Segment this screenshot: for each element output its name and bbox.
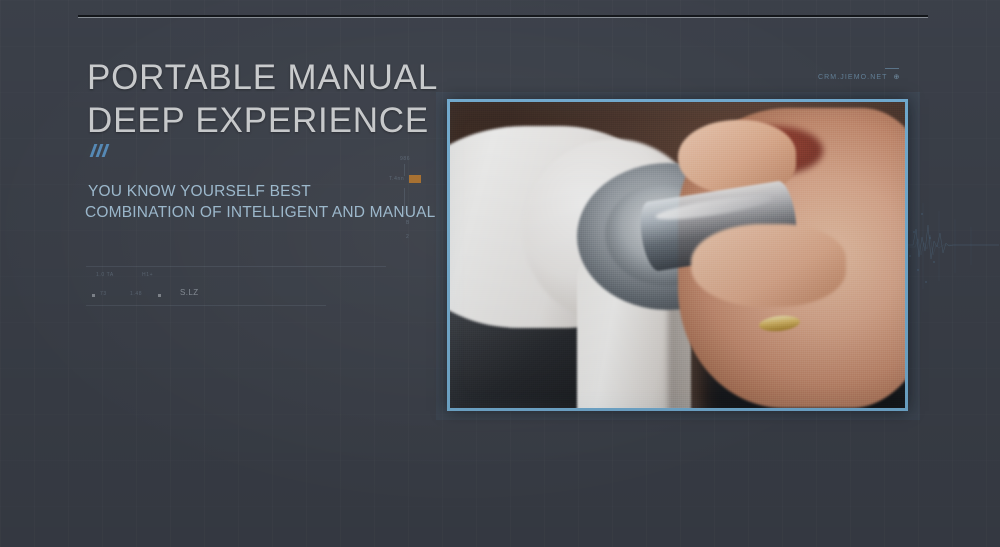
hud-label: T.4nn	[389, 176, 404, 182]
subtitle-line-1: YOU KNOW YOURSELF BEST	[88, 181, 435, 202]
page-title: PORTABLE MANUAL DEEP EXPERIENCE	[87, 56, 438, 142]
hud-amber-badge	[409, 175, 421, 183]
hud-label: H1+	[142, 272, 153, 278]
hud-square-marker	[158, 294, 161, 297]
hud-connector-line	[404, 188, 405, 214]
waveform-graphic	[903, 185, 999, 305]
hud-label: B	[406, 220, 410, 226]
product-photo-image	[450, 102, 905, 408]
watermark-text: CRM.JIEMO.NET	[818, 74, 888, 81]
headline-line-1: PORTABLE MANUAL	[87, 56, 438, 99]
hud-guide-line	[86, 266, 386, 267]
hud-connector-line	[404, 164, 405, 176]
triple-slash-accent-icon	[92, 144, 132, 160]
watermark-tick	[885, 68, 899, 69]
hud-square-marker	[92, 294, 95, 297]
hud-label: 1.48	[130, 291, 142, 297]
headline-line-2: DEEP EXPERIENCE	[87, 99, 438, 142]
hud-label: 986	[400, 156, 410, 162]
promo-slide: PORTABLE MANUAL DEEP EXPERIENCE YOU KNOW…	[0, 0, 1000, 547]
hud-label: 1.0 TA	[96, 272, 114, 278]
watermark: CRM.JIEMO.NET⊕	[818, 73, 901, 81]
watermark-badge-icon: ⊕	[894, 73, 901, 81]
product-photo	[447, 99, 908, 411]
hud-guide-line	[86, 305, 326, 306]
hud-label: 73	[100, 291, 107, 297]
hud-label: S.LZ	[180, 288, 199, 297]
subtitle-line-2: COMBINATION OF INTELLIGENT AND MANUAL	[85, 202, 435, 223]
top-divider-rule	[78, 15, 928, 18]
hud-label: 2	[406, 234, 409, 240]
subtitle: YOU KNOW YOURSELF BEST COMBINATION OF IN…	[88, 181, 435, 223]
